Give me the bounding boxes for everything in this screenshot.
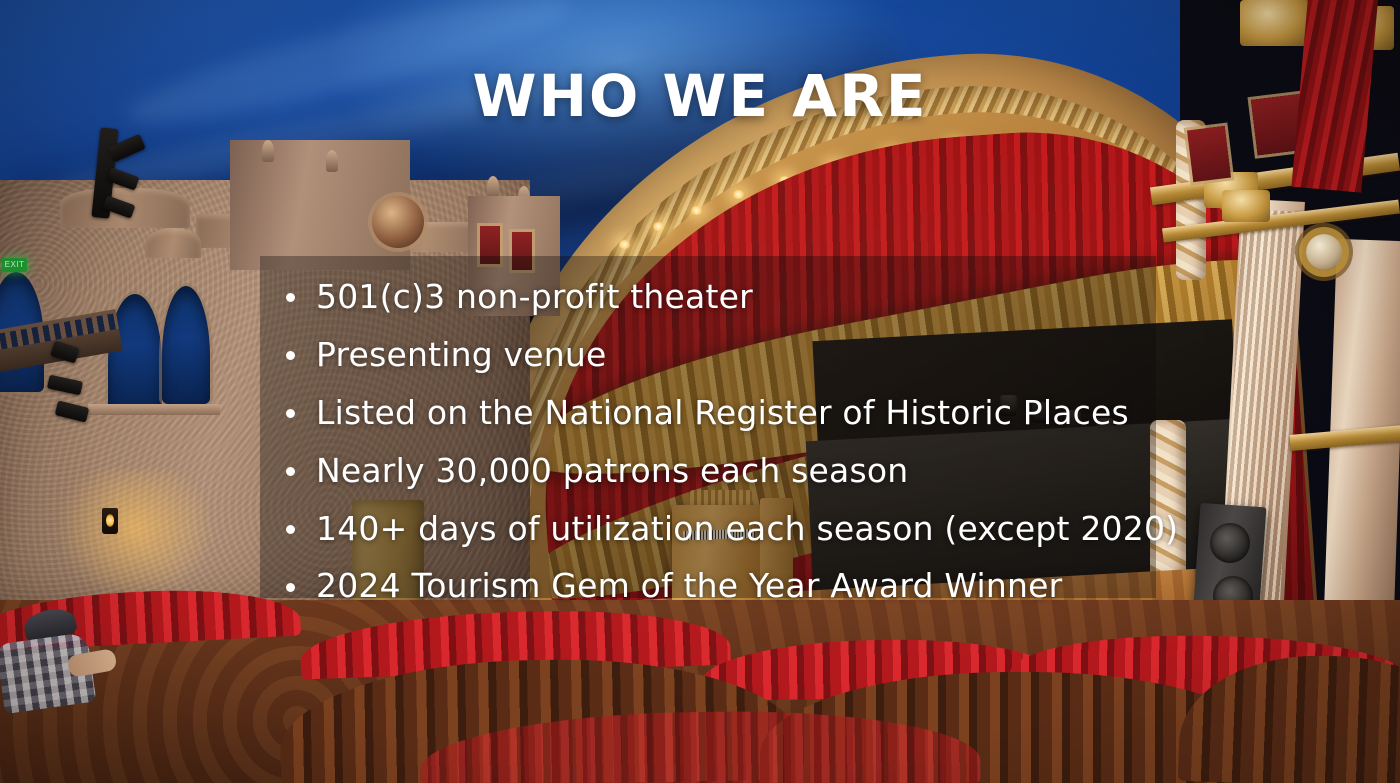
bullet-dot-icon [286, 583, 295, 592]
finial-icon [326, 150, 338, 172]
slide-canvas: EXIT [0, 0, 1400, 783]
window-sill [88, 404, 220, 415]
wall-crenellation [145, 228, 201, 258]
list-item: Presenting venue [282, 334, 1162, 377]
bullet-dot-icon [286, 409, 295, 418]
column-capital [1222, 190, 1270, 222]
list-item-label: 501(c)3 non-profit theater [316, 277, 753, 316]
list-item: Listed on the National Register of Histo… [282, 392, 1162, 435]
list-item: 501(c)3 non-profit theater [282, 276, 1162, 319]
page-title: WHO WE ARE [0, 67, 1400, 125]
list-item: 140+ days of utilization each season (ex… [282, 508, 1162, 551]
wall-sconce-glow [55, 470, 215, 600]
sconce-flame-icon [106, 514, 114, 527]
finial-icon [262, 140, 274, 162]
bullet-list: 501(c)3 non-profit theater Presenting ve… [282, 276, 1162, 623]
rose-medallion-icon [372, 196, 424, 248]
list-item: 2024 Tourism Gem of the Year Award Winne… [282, 565, 1162, 608]
exit-sign: EXIT [2, 258, 27, 272]
bullet-dot-icon [286, 293, 295, 302]
bullet-dot-icon [286, 467, 295, 476]
column-capital [1240, 0, 1310, 46]
finial-icon [487, 176, 499, 198]
list-item-label: Presenting venue [316, 335, 607, 374]
bullet-dot-icon [286, 525, 295, 534]
oculus-medallion-icon [1306, 234, 1342, 270]
list-item-label: 2024 Tourism Gem of the Year Award Winne… [316, 566, 1062, 605]
red-niche-panel [1187, 126, 1231, 182]
bullet-dot-icon [286, 351, 295, 360]
list-item-label: Nearly 30,000 patrons each season [316, 451, 908, 490]
list-item-label: Listed on the National Register of Histo… [316, 393, 1129, 432]
list-item-label: 140+ days of utilization each season (ex… [316, 509, 1178, 548]
audience-person [0, 610, 110, 730]
list-item: Nearly 30,000 patrons each season [282, 450, 1162, 493]
speaker-cone-icon [1210, 523, 1250, 563]
